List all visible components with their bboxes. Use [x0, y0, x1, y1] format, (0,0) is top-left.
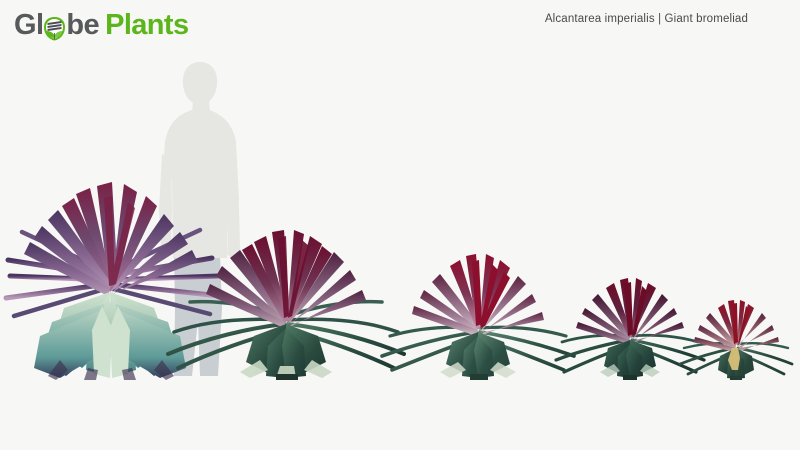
plant-3-crown [412, 254, 544, 336]
logo-text-plants: Plants [105, 11, 188, 40]
plant-4-crown [576, 278, 684, 344]
plant-5-base [718, 348, 754, 379]
scene-canvas: Gl be Plants Alcantarea imperialis | Gia… [0, 0, 800, 450]
logo-text-part1: Gl [14, 11, 43, 40]
plant-5 [676, 298, 796, 380]
species-caption: Alcantarea imperialis | Giant bromeliad [545, 13, 748, 25]
globe-plants-logo[interactable]: Gl be Plants [14, 8, 189, 42]
leaf-globe-icon [43, 16, 66, 41]
plant-3 [378, 252, 578, 380]
plant-2 [164, 228, 408, 380]
plant-2-crown [206, 230, 366, 328]
logo-text-part2: be [66, 11, 99, 40]
